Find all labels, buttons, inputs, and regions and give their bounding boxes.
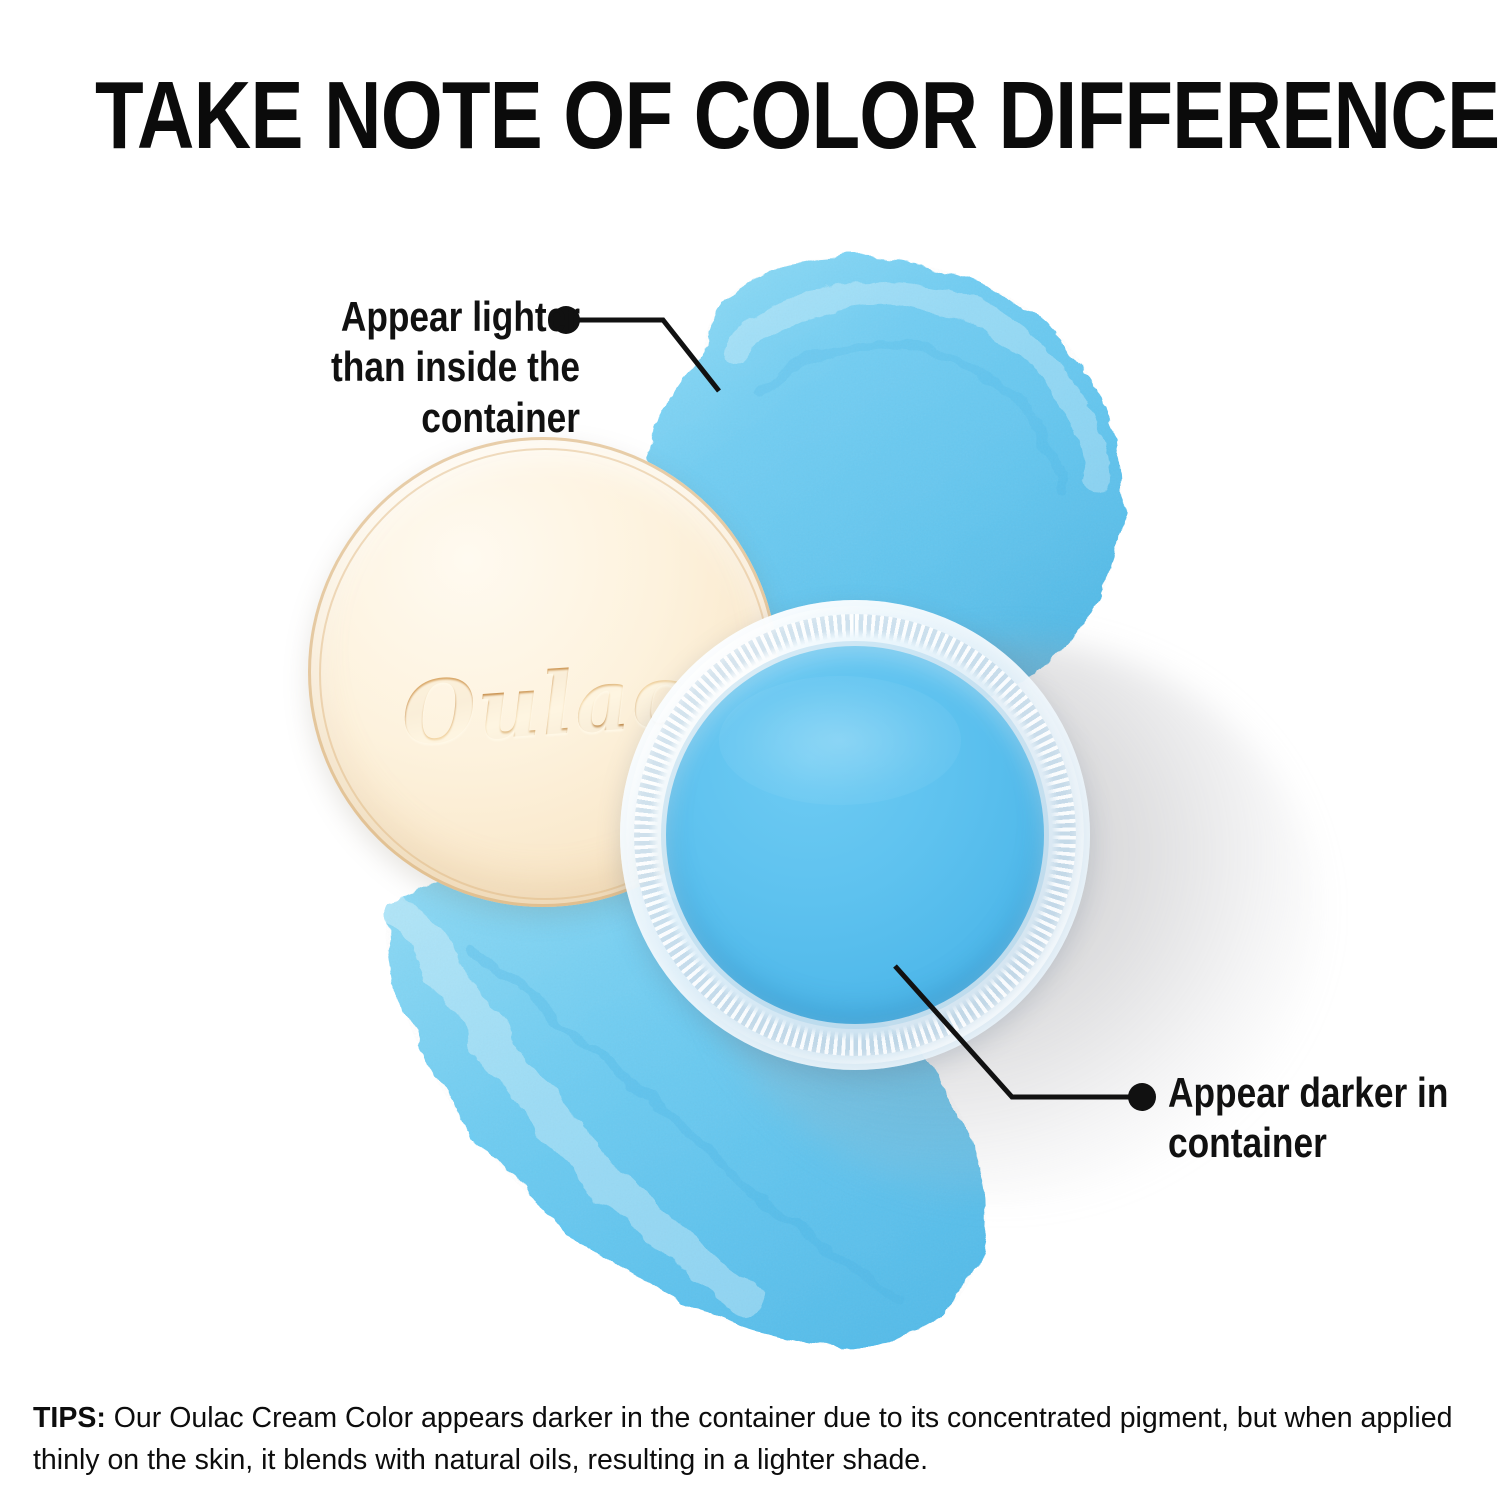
callout-appear-lighter: Appear lighter than inside the container bbox=[177, 292, 580, 443]
tips-label: TIPS: bbox=[33, 1402, 106, 1434]
callout-left-line-2: than inside the container bbox=[177, 342, 580, 443]
leader-line-right bbox=[895, 966, 1139, 1097]
product-infographic: TAKE NOTE OF COLOR DIFFERENCES... bbox=[0, 0, 1500, 1500]
callout-leader-lines bbox=[0, 0, 1500, 1500]
leader-dot-right bbox=[1128, 1083, 1156, 1111]
callout-right-line-2: container bbox=[1168, 1118, 1500, 1168]
callout-appear-darker: Appear darker in container bbox=[1168, 1068, 1500, 1169]
tips-paragraph: TIPS: Our Oulac Cream Color appears dark… bbox=[33, 1398, 1463, 1481]
tips-body: Our Oulac Cream Color appears darker in … bbox=[33, 1402, 1452, 1476]
product-photo-composite: Oulac bbox=[0, 0, 1500, 1500]
callout-left-line-1: Appear lighter bbox=[177, 292, 580, 342]
leader-line-left bbox=[568, 320, 719, 391]
callout-right-line-1: Appear darker in bbox=[1168, 1068, 1500, 1118]
